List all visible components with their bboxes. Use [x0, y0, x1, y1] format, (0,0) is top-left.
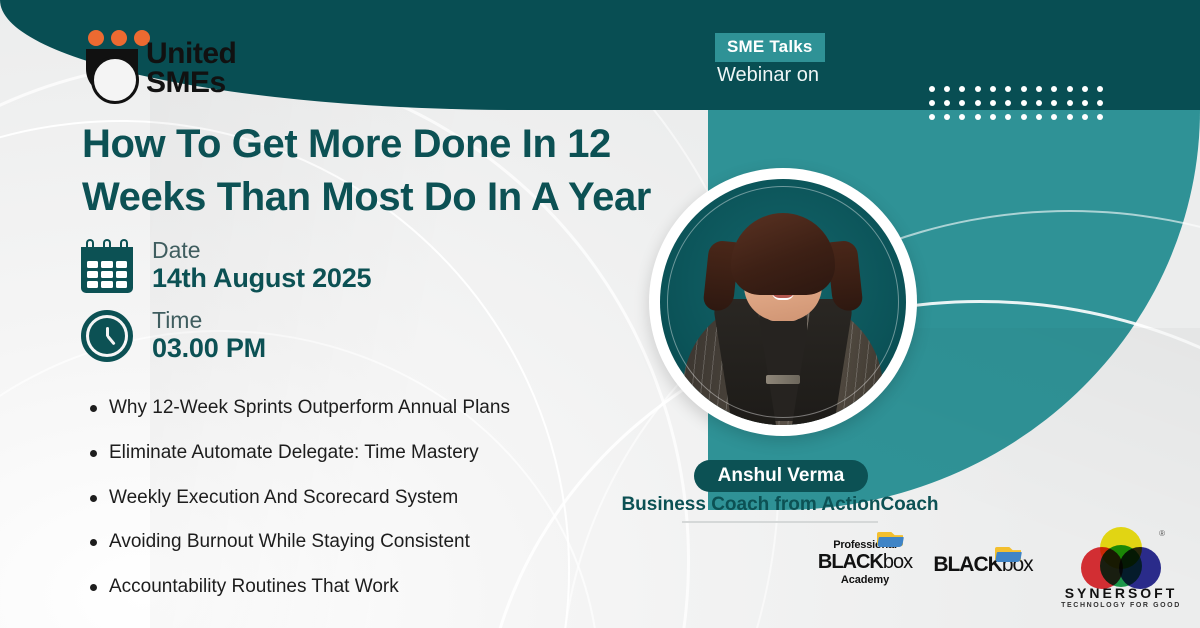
sponsor-1-bold: BLACK: [818, 551, 883, 573]
bullet-dot-icon: [90, 405, 97, 412]
speaker-role-label: Business Coach from ActionCoach: [610, 494, 950, 516]
list-item: Accountability Routines That Work: [90, 575, 650, 599]
list-item: Weekly Execution And Scorecard System: [90, 486, 650, 510]
page-title: How To Get More Done In 12 Weeks Than Mo…: [82, 118, 662, 224]
sponsor-3-main: SYNERSOFT: [1051, 585, 1191, 601]
webinar-poster: United SMEs SME Talks Webinar on How To …: [0, 0, 1200, 628]
sponsor-1-bottom: Academy: [805, 574, 925, 586]
brand-logo-line1: United: [146, 40, 236, 69]
united-smes-circle-icon: [86, 49, 138, 95]
brand-logo[interactable]: United SMEs: [80, 28, 320, 98]
topics-list: Why 12-Week Sprints Outperform Annual Pl…: [90, 396, 650, 620]
list-item-label: Accountability Routines That Work: [109, 575, 399, 599]
list-item-label: Weekly Execution And Scorecard System: [109, 486, 458, 510]
list-item-label: Why 12-Week Sprints Outperform Annual Pl…: [109, 396, 510, 420]
registered-mark: ®: [1159, 529, 1165, 538]
event-detail-date: Date 14th August 2025: [80, 238, 500, 294]
brand-logo-line2: SMEs: [146, 69, 236, 98]
clock-icon: [80, 309, 134, 363]
list-item: Eliminate Automate Delegate: Time Master…: [90, 441, 650, 465]
list-item: Avoiding Burnout While Staying Consisten…: [90, 530, 650, 554]
blackbox-folder-icon: [877, 530, 903, 547]
speaker-divider: [682, 521, 878, 523]
time-value: 03.00 PM: [152, 333, 266, 364]
bullet-dot-icon: [90, 495, 97, 502]
sponsor-synersoft: ® SYNERSOFT TECHNOLOGY FOR GOOD: [1051, 527, 1191, 609]
time-label: Time: [152, 308, 266, 333]
dot-grid-pattern-icon: [924, 82, 1108, 124]
calendar-icon: [80, 239, 134, 293]
three-orange-dots-icon: [88, 30, 150, 46]
event-detail-time: Time 03.00 PM: [80, 308, 500, 364]
list-item: Why 12-Week Sprints Outperform Annual Pl…: [90, 396, 650, 420]
sponsor-3-tagline: TECHNOLOGY FOR GOOD: [1051, 602, 1191, 609]
sponsor-logos: Professional BLACKbox Academy BLACKbox ®…: [805, 527, 1195, 607]
sponsor-professional-blackbox-academy: Professional BLACKbox Academy: [805, 539, 925, 586]
sponsor-1-light: box: [883, 551, 912, 573]
bullet-dot-icon: [90, 584, 97, 591]
date-value: 14th August 2025: [152, 263, 371, 294]
sponsor-1-top: Professional: [805, 539, 925, 551]
synersoft-circles-icon: ®: [1081, 527, 1161, 583]
sme-talks-badge: SME Talks: [715, 33, 825, 62]
speaker-name-badge: Anshul Verma: [694, 460, 868, 492]
event-details: Date 14th August 2025 Time 03.00 PM: [80, 238, 500, 378]
sponsor-1-main: BLACKbox: [805, 551, 925, 574]
bullet-dot-icon: [90, 539, 97, 546]
speaker-portrait-icon: [649, 168, 917, 436]
date-label: Date: [152, 238, 371, 263]
blackbox-folder-icon: [995, 545, 1021, 562]
list-item-label: Eliminate Automate Delegate: Time Master…: [109, 441, 479, 465]
brand-logo-text: United SMEs: [146, 40, 236, 98]
bullet-dot-icon: [90, 450, 97, 457]
webinar-on-label: Webinar on: [715, 64, 821, 87]
list-item-label: Avoiding Burnout While Staying Consisten…: [109, 530, 470, 554]
sponsor-2-bold: BLACK: [933, 553, 1002, 576]
